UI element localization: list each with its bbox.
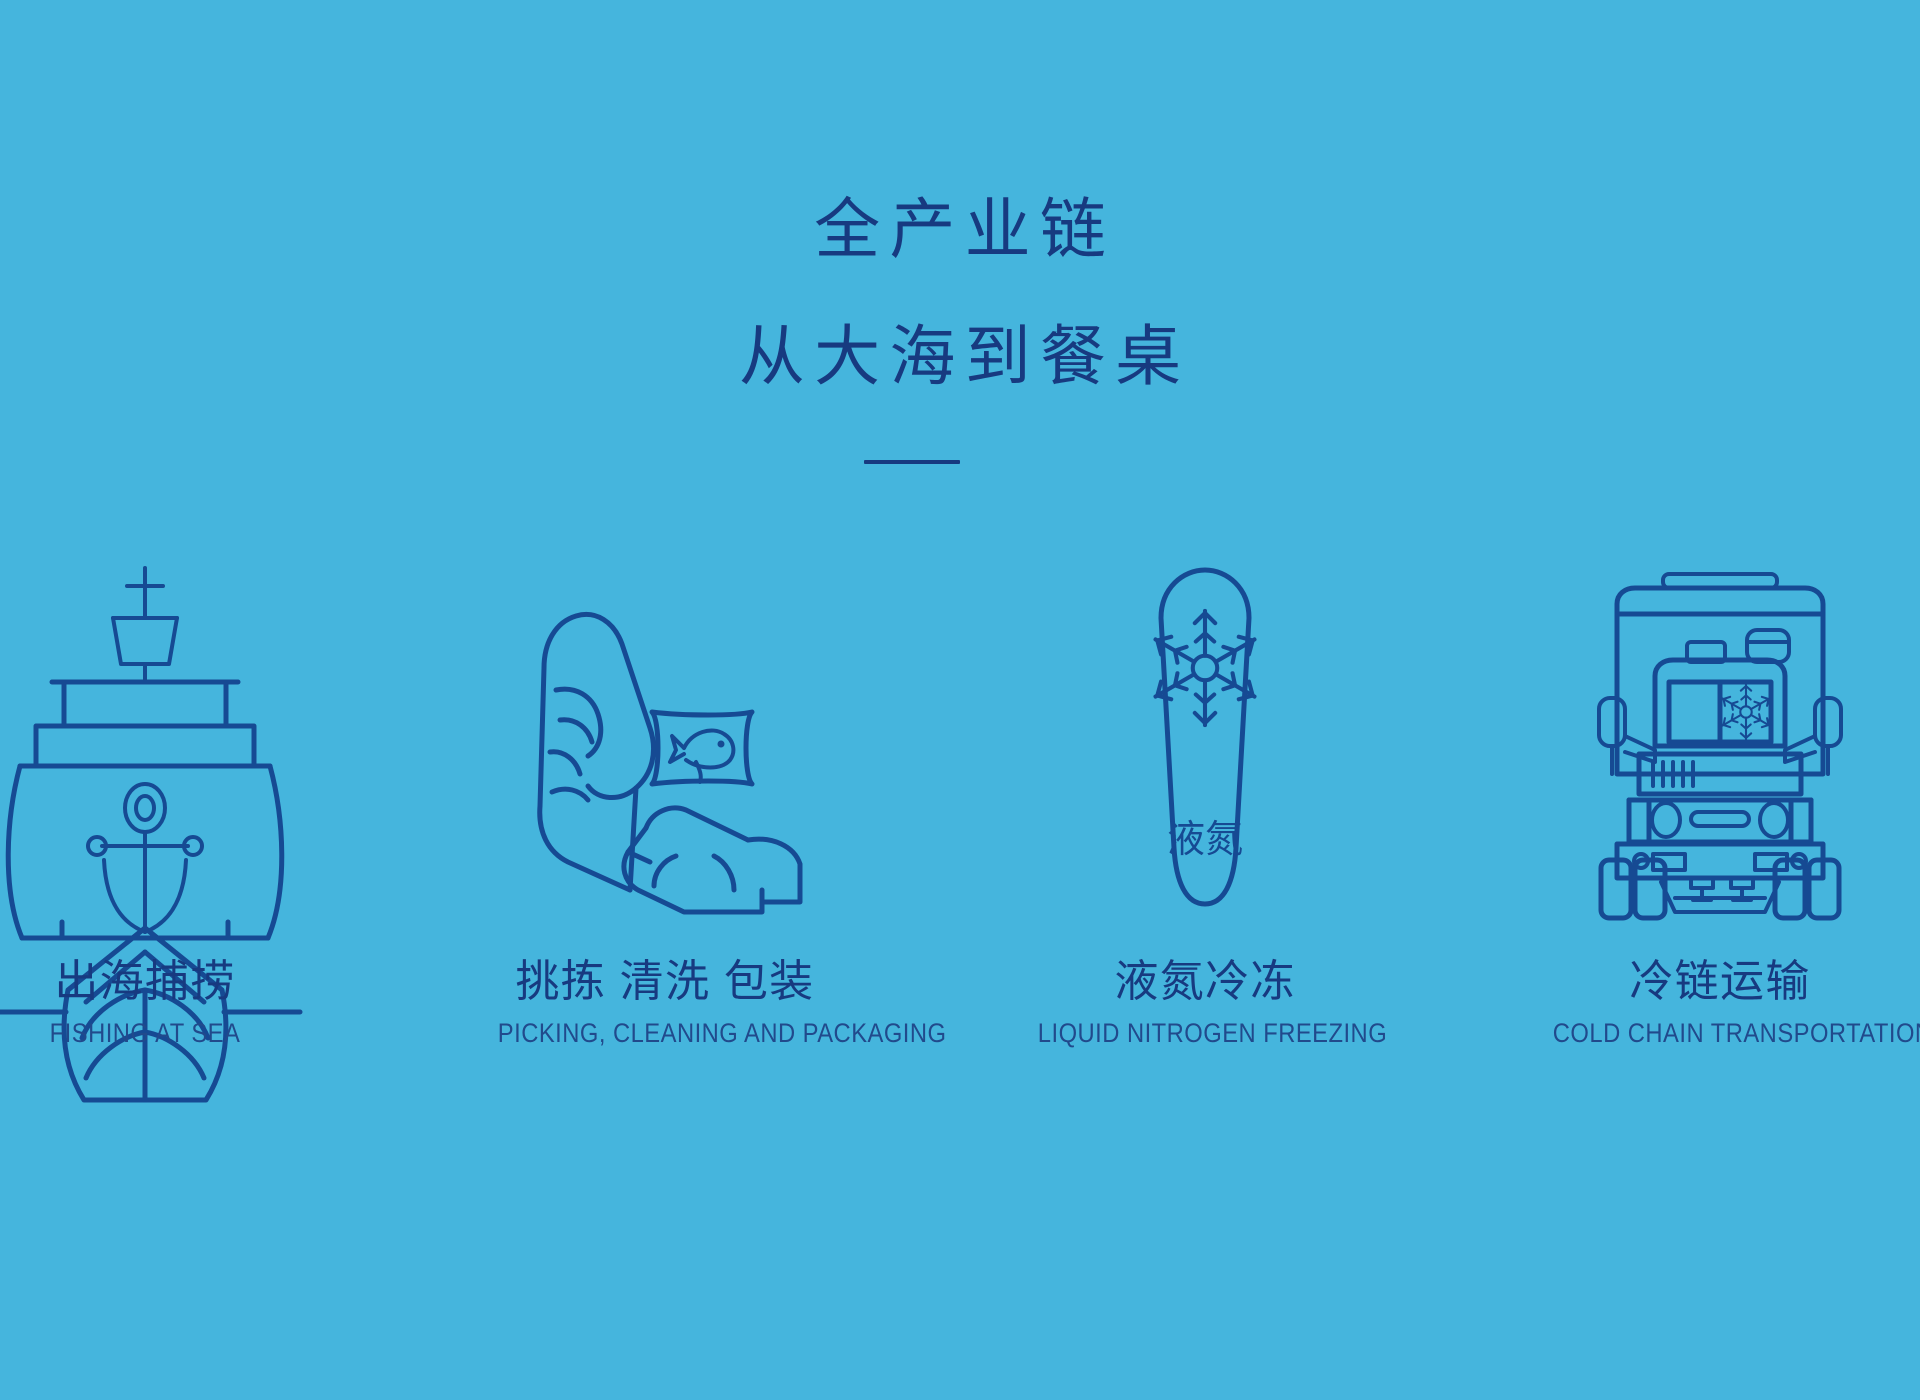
step-label-en: COLD CHAIN TRANSPORTATION	[1553, 1018, 1887, 1049]
step-liquid-nitrogen-freezing: 液氮 液氮冷冻 LIQUID NITROGEN FREEZING	[1015, 520, 1395, 1049]
snowflake-icon	[1720, 685, 1772, 739]
liquid-nitrogen-tank-icon: 液氮	[1015, 520, 1395, 920]
step-picking-cleaning-packaging: 挑拣 清洗 包装 PICKING, CLEANING AND PACKAGING	[475, 520, 855, 1049]
refrigerated-truck-icon	[1530, 520, 1910, 920]
title-divider	[864, 460, 960, 464]
page-title-line-2: 从大海到餐桌	[0, 325, 1920, 391]
step-label-cn: 液氮冷冻	[1015, 958, 1395, 1006]
step-label-cn: 出海捕捞	[0, 958, 335, 1006]
step-label-cn: 挑拣 清洗 包装	[475, 958, 855, 1006]
page-title-line-1: 全产业链	[0, 198, 1920, 264]
step-label-en: PICKING, CLEANING AND PACKAGING	[498, 1018, 832, 1049]
hands-packaged-fish-icon	[475, 520, 855, 920]
infographic-canvas: 全产业链 从大海到餐桌	[0, 0, 1920, 1400]
step-fishing-at-sea: 出海捕捞 FISHING AT SEA	[0, 520, 335, 1049]
step-label-en: LIQUID NITROGEN FREEZING	[1038, 1018, 1372, 1049]
step-cold-chain-transportation: 冷链运输 COLD CHAIN TRANSPORTATION	[1530, 520, 1910, 1049]
step-label-cn: 冷链运输	[1530, 958, 1910, 1006]
tank-label: 液氮	[1167, 819, 1243, 861]
step-label-en: FISHING AT SEA	[0, 1018, 312, 1049]
fishing-boat-icon	[0, 520, 335, 920]
